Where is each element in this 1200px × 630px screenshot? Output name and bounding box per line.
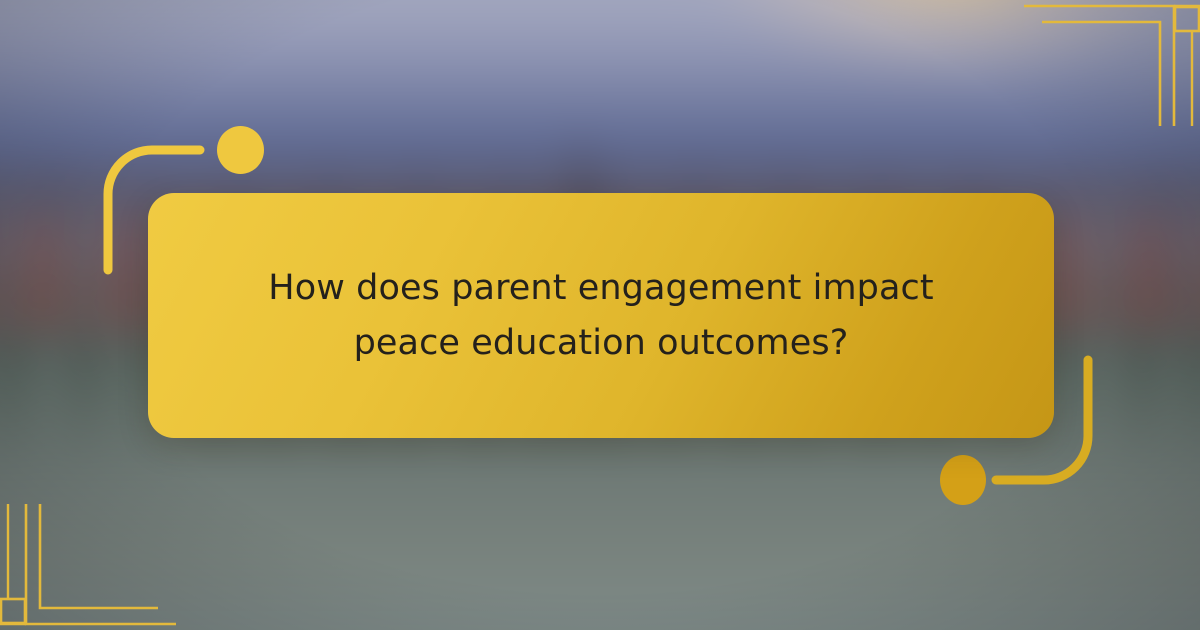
question-card: How does parent engagement impact peace … — [148, 193, 1054, 438]
question-text: How does parent engagement impact peace … — [221, 261, 981, 370]
question-card-graphic: How does parent engagement impact peace … — [0, 0, 1200, 630]
accent-dot-bottom-icon — [940, 455, 986, 505]
accent-dot-top-icon — [217, 126, 264, 174]
